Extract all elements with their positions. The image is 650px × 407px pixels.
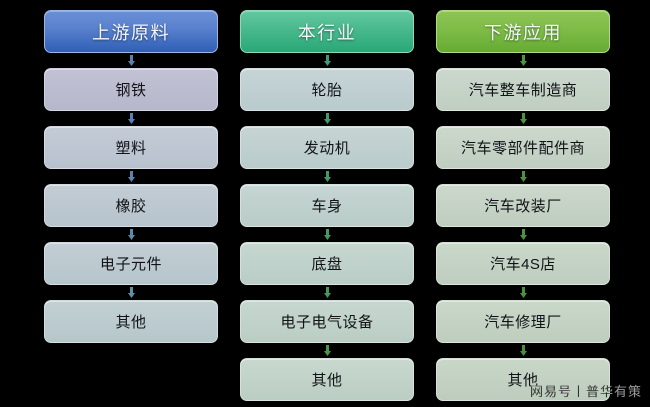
node-downstream-1: 汽车零部件配件商: [436, 126, 610, 169]
node-downstream-3: 汽车4S店: [436, 242, 610, 285]
supply-chain-diagram: 上游原料 钢铁 塑料 橡胶 电子元件 其他: [0, 0, 650, 407]
node-industry-3: 底盘: [240, 242, 414, 285]
node-label: 汽车零部件配件商: [461, 137, 585, 158]
arrow-down-icon: [44, 285, 218, 300]
node-upstream-4: 其他: [44, 300, 218, 343]
node-upstream-2: 橡胶: [44, 184, 218, 227]
node-industry-4: 电子电气设备: [240, 300, 414, 343]
node-label: 汽车整车制造商: [469, 79, 578, 100]
arrow-down-icon: [240, 285, 414, 300]
arrow-down-icon: [44, 227, 218, 242]
arrow-down-icon: [240, 169, 414, 184]
node-downstream-2: 汽车改装厂: [436, 184, 610, 227]
node-label: 汽车4S店: [490, 253, 556, 274]
node-label: 电子元件: [100, 253, 162, 274]
column-header-downstream-label: 下游应用: [484, 19, 562, 45]
node-label: 发动机: [304, 137, 351, 158]
arrow-down-icon: [436, 169, 610, 184]
column-header-industry: 本行业: [240, 10, 414, 53]
node-downstream-5: 其他: [436, 358, 610, 401]
arrow-down-icon: [44, 111, 218, 126]
node-label: 其他: [115, 311, 146, 332]
node-label: 电子电气设备: [280, 311, 373, 332]
node-downstream-4: 汽车修理厂: [436, 300, 610, 343]
node-industry-5: 其他: [240, 358, 414, 401]
node-industry-0: 轮胎: [240, 68, 414, 111]
node-label: 轮胎: [311, 79, 342, 100]
column-header-downstream: 下游应用: [436, 10, 610, 53]
arrow-down-icon: [240, 227, 414, 242]
arrow-down-icon: [44, 169, 218, 184]
arrow-down-icon: [436, 227, 610, 242]
node-upstream-3: 电子元件: [44, 242, 218, 285]
column-industry: 本行业 轮胎 发动机 车身 底盘 电子电气设备: [240, 0, 414, 407]
node-label: 汽车改装厂: [484, 195, 562, 216]
arrow-down-icon: [44, 53, 218, 68]
node-label: 其他: [311, 369, 342, 390]
column-upstream: 上游原料 钢铁 塑料 橡胶 电子元件 其他: [44, 0, 218, 407]
arrow-down-icon: [436, 285, 610, 300]
node-industry-1: 发动机: [240, 126, 414, 169]
node-label: 其他: [507, 369, 538, 390]
arrow-down-icon: [436, 343, 610, 358]
node-label: 橡胶: [115, 195, 146, 216]
column-downstream: 下游应用 汽车整车制造商 汽车零部件配件商 汽车改装厂 汽车4S店: [436, 0, 610, 407]
node-downstream-0: 汽车整车制造商: [436, 68, 610, 111]
arrow-down-icon: [240, 111, 414, 126]
column-header-upstream-label: 上游原料: [92, 19, 170, 45]
arrow-down-icon: [436, 111, 610, 126]
arrow-down-icon: [436, 53, 610, 68]
node-label: 车身: [311, 195, 342, 216]
node-label: 汽车修理厂: [484, 311, 562, 332]
node-label: 钢铁: [115, 79, 146, 100]
arrow-down-icon: [240, 343, 414, 358]
node-label: 塑料: [115, 137, 146, 158]
node-upstream-0: 钢铁: [44, 68, 218, 111]
column-header-upstream: 上游原料: [44, 10, 218, 53]
node-upstream-1: 塑料: [44, 126, 218, 169]
arrow-down-icon: [240, 53, 414, 68]
column-header-industry-label: 本行业: [298, 19, 357, 45]
node-label: 底盘: [311, 253, 342, 274]
node-industry-2: 车身: [240, 184, 414, 227]
